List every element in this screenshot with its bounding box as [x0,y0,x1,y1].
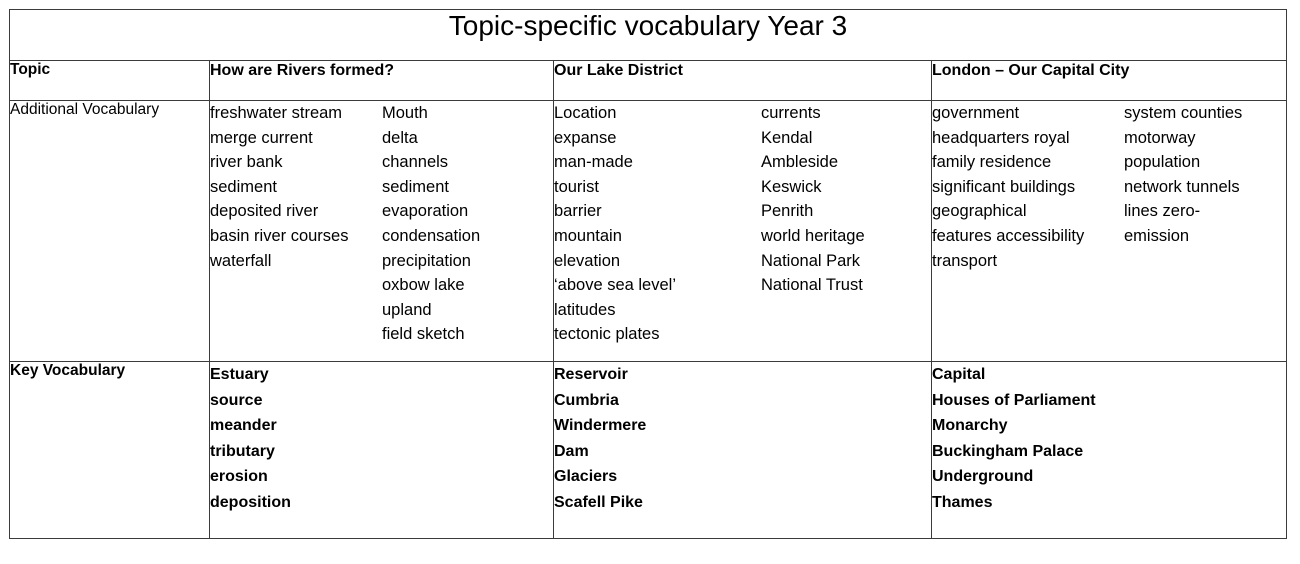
word-list-additional-london-a: governmentheadquarters royalfamily resid… [932,101,1124,273]
vocabulary-word: meander [210,413,291,439]
word-list-key-london: CapitalHouses of ParliamentMonarchyBucki… [932,362,1096,516]
vocabulary-word: sediment [210,175,382,200]
vocabulary-word: lines zero- [1124,199,1242,224]
vocabulary-word: tectonic plates [554,322,761,347]
table-title-row: Topic-specific vocabulary Year 3 [10,10,1287,61]
vocabulary-word: Windermere [554,413,646,439]
vocabulary-word: Houses of Parliament [932,388,1096,414]
vocabulary-word: erosion [210,464,291,490]
vocabulary-word: features accessibility [932,224,1124,249]
page-title: Topic-specific vocabulary Year 3 [10,10,1286,42]
word-list-additional-lake-district-a: Locationexpanseman-madetouristbarriermou… [554,101,761,347]
vocabulary-word: freshwater stream [210,101,382,126]
vocabulary-word: currents [761,101,865,126]
vocabulary-word: Reservoir [554,362,646,388]
vocabulary-word: merge current [210,126,382,151]
page-root: Topic-specific vocabulary Year 3 Topic H… [0,0,1300,564]
vocabulary-word: network tunnels [1124,175,1242,200]
vocabulary-word: sediment [382,175,480,200]
cell-key-rivers: Estuarysourcemeandertributaryerosiondepo… [210,362,554,539]
vocabulary-word: source [210,388,291,414]
vocabulary-word: significant buildings [932,175,1124,200]
header-label-topic-text: Topic [10,61,50,78]
table-header-row: Topic How are Rivers formed? Our Lake Di… [10,61,1287,101]
vocabulary-word: elevation [554,249,761,274]
vocabulary-word: precipitation [382,249,480,274]
row-key-vocabulary: Key Vocabulary Estuarysourcemeandertribu… [10,362,1287,539]
header-column-lake-district: Our Lake District [554,61,932,101]
vocabulary-word: deposition [210,490,291,516]
vocabulary-word: Scafell Pike [554,490,646,516]
word-list-additional-rivers-a: freshwater streammerge currentriver bank… [210,101,382,347]
vocabulary-word: Monarchy [932,413,1096,439]
vocabulary-word: Penrith [761,199,865,224]
vocabulary-word: Capital [932,362,1096,388]
vocabulary-word: tributary [210,439,291,465]
row-label-additional-vocabulary: Additional Vocabulary [10,101,210,362]
vocabulary-word: Estuary [210,362,291,388]
vocabulary-word: delta [382,126,480,151]
vocabulary-word: Underground [932,464,1096,490]
cell-additional-london: governmentheadquarters royalfamily resid… [932,101,1287,362]
vocabulary-word: National Park [761,249,865,274]
vocabulary-word: population [1124,150,1242,175]
topic-vocabulary-table: Topic-specific vocabulary Year 3 Topic H… [9,9,1287,539]
title-banner: Topic-specific vocabulary Year 3 [10,10,1287,61]
cell-additional-rivers: freshwater streammerge currentriver bank… [210,101,554,362]
vocabulary-word: system counties [1124,101,1242,126]
row-label-key-vocabulary: Key Vocabulary [10,362,210,539]
vocabulary-word: condensation [382,224,480,249]
header-column-rivers: How are Rivers formed? [210,61,554,101]
header-label-topic: Topic [10,61,210,101]
vocabulary-word: basin river courses [210,224,382,249]
cell-key-london: CapitalHouses of ParliamentMonarchyBucki… [932,362,1287,539]
vocabulary-word: ‘above sea level’ [554,273,761,298]
vocabulary-word: deposited river [210,199,382,224]
vocabulary-word: oxbow lake [382,273,480,298]
vocabulary-word: Buckingham Palace [932,439,1096,465]
vocabulary-word: channels [382,150,480,175]
vocabulary-word: waterfall [210,249,382,274]
vocabulary-word: mountain [554,224,761,249]
vocabulary-word: geographical [932,199,1124,224]
vocabulary-word: Cumbria [554,388,646,414]
vocabulary-word: Mouth [382,101,480,126]
vocabulary-word: Location [554,101,761,126]
vocabulary-word: motorway [1124,126,1242,151]
vocabulary-word: evaporation [382,199,480,224]
vocabulary-word: family residence [932,150,1124,175]
row-label-additional-vocabulary-text: Additional Vocabulary [10,101,159,118]
cell-additional-lake-district: Locationexpanseman-madetouristbarriermou… [554,101,932,362]
vocabulary-word: expanse [554,126,761,151]
vocabulary-word: Dam [554,439,646,465]
vocabulary-word: river bank [210,150,382,175]
vocabulary-word: latitudes [554,298,761,323]
vocabulary-word: emission [1124,224,1242,249]
row-additional-vocabulary: Additional Vocabulary freshwater streamm… [10,101,1287,362]
vocabulary-word: barrier [554,199,761,224]
vocabulary-word: field sketch [382,322,480,347]
vocabulary-word: Ambleside [761,150,865,175]
header-column-london-text: London – Our Capital City [932,62,1129,79]
header-column-lake-district-text: Our Lake District [554,62,683,79]
vocabulary-word: tourist [554,175,761,200]
vocabulary-word: Keswick [761,175,865,200]
vocabulary-word: man-made [554,150,761,175]
word-list-additional-london-b: system countiesmotorwaypopulationnetwork… [1124,101,1242,273]
vocabulary-word: headquarters royal [932,126,1124,151]
cell-key-lake-district: ReservoirCumbriaWindermereDamGlaciersSca… [554,362,932,539]
vocabulary-word: Thames [932,490,1096,516]
vocabulary-word: Kendal [761,126,865,151]
vocabulary-word: government [932,101,1124,126]
header-column-london: London – Our Capital City [932,61,1287,101]
vocabulary-word: National Trust [761,273,865,298]
vocabulary-word: transport [932,249,1124,274]
word-list-key-lake-district: ReservoirCumbriaWindermereDamGlaciersSca… [554,362,646,516]
header-column-rivers-text: How are Rivers formed? [210,62,394,79]
vocabulary-word: upland [382,298,480,323]
word-list-additional-rivers-b: Mouthdeltachannelssedimentevaporationcon… [382,101,480,347]
row-label-key-vocabulary-text: Key Vocabulary [10,362,125,379]
vocabulary-word: Glaciers [554,464,646,490]
word-list-additional-lake-district-b: currentsKendalAmblesideKeswickPenrithwor… [761,101,865,347]
vocabulary-word: world heritage [761,224,865,249]
word-list-key-rivers: Estuarysourcemeandertributaryerosiondepo… [210,362,291,516]
